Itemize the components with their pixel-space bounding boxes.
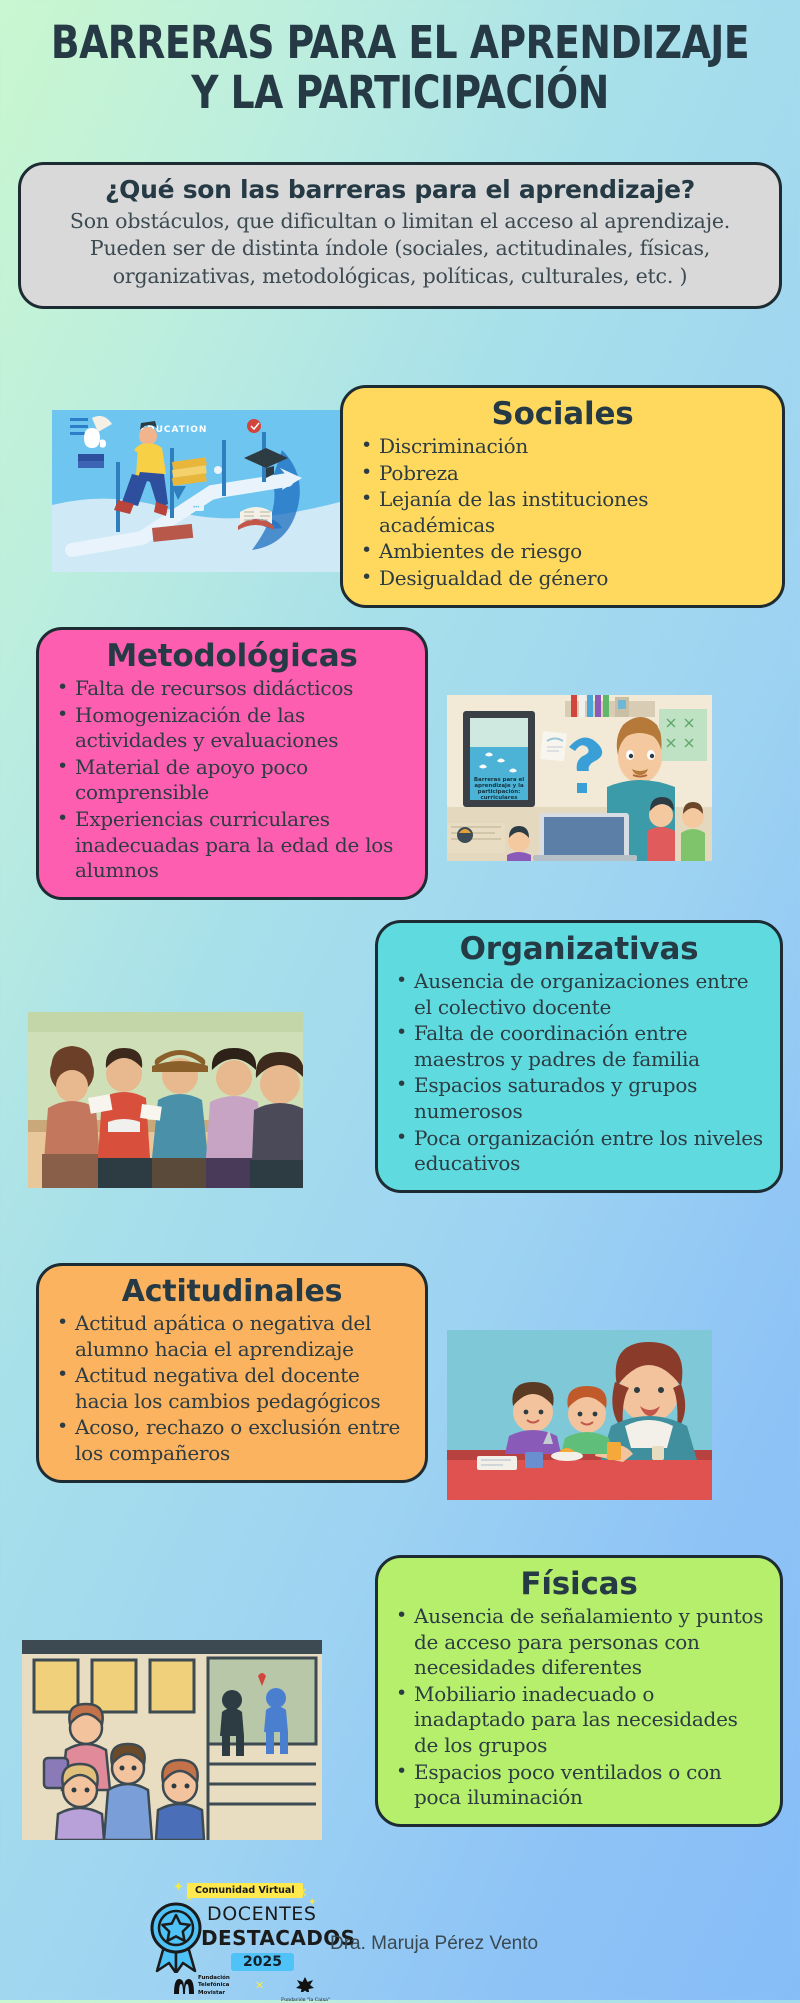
list-item: Homogenización de las actividades y eval…	[53, 703, 411, 754]
list-item: Falta de recursos didácticos	[53, 676, 411, 702]
author-credit: Dra. Maruja Pérez Vento	[330, 1933, 538, 1955]
fundacion-telefonica-label: FundaciónTelefónicaMovistar	[198, 1975, 230, 1997]
page-title: BARRERAS PARA EL APRENDIZAJE Y LA PARTIC…	[28, 18, 772, 119]
card-actitudinales-list: Actitud apática o negativa del alumno ha…	[53, 1311, 411, 1467]
docentes-destacados-logo: ✦ ✕ ✕ ✦ Comunidad Virtual DOCENTES DESTA…	[145, 1883, 330, 1993]
card-actitudinales-title: Actitudinales	[53, 1274, 411, 1309]
card-sociales: Sociales Discriminación Pobreza Lejanía …	[340, 385, 785, 608]
list-item: Acoso, rechazo o exclusión entre los com…	[53, 1415, 411, 1466]
footer: ✦ ✕ ✕ ✦ Comunidad Virtual DOCENTES DESTA…	[0, 1875, 800, 2000]
accessibility-illustration	[22, 1640, 322, 1840]
list-item: Material de apoyo poco comprensible	[53, 755, 411, 806]
list-item: Actitud apática o negativa del alumno ha…	[53, 1311, 411, 1362]
classroom-illustration-svg: Barreras para el aprendizaje y la partic…	[447, 695, 712, 861]
list-item: Mobiliario inadecuado o inadaptado para …	[392, 1682, 766, 1759]
list-item: Falta de coordinación entre maestros y p…	[392, 1021, 766, 1072]
sponsor-logos: FundaciónTelefónicaMovistar ✕ Fundación …	[173, 1975, 348, 2003]
education-illustration: EDUCATION	[52, 410, 340, 572]
list-item: Discriminación	[357, 434, 768, 460]
svg-text:participación:: participación:	[478, 788, 521, 795]
title-line-1: BARRERAS PARA EL APRENDIZAJE	[28, 18, 772, 68]
logo-docentes-text: DOCENTES	[207, 1903, 317, 1925]
ribbon-star-icon	[147, 1901, 205, 1978]
list-item: Actitud negativa del docente hacia los c…	[53, 1363, 411, 1414]
card-organizativas-title: Organizativas	[392, 931, 766, 967]
card-organizativas-list: Ausencia de organizaciones entre el cole…	[392, 969, 766, 1177]
list-item: Espacios poco ventilados o con poca ilum…	[392, 1760, 766, 1811]
card-organizativas: Organizativas Ausencia de organizaciones…	[375, 920, 783, 1193]
card-sociales-list: Discriminación Pobreza Lejanía de las in…	[357, 434, 768, 592]
logo-year-badge: 2025	[231, 1953, 294, 1971]
card-sociales-title: Sociales	[357, 396, 768, 432]
definition-text: Son obstáculos, que dificultan o limitan…	[35, 208, 765, 290]
movistar-m-icon	[173, 1976, 195, 1996]
infographic-page: BARRERAS PARA EL APRENDIZAJE Y LA PARTIC…	[0, 0, 800, 2000]
card-fisicas: Físicas Ausencia de señalamiento y punto…	[375, 1555, 783, 1827]
definition-question: ¿Qué son las barreras para el aprendizaj…	[35, 175, 765, 204]
list-item: Pobreza	[357, 461, 768, 487]
card-fisicas-list: Ausencia de señalamiento y puntos de acc…	[392, 1604, 766, 1811]
list-item: Ambientes de riesgo	[357, 539, 768, 565]
list-item: Lejanía de las instituciones académicas	[357, 487, 768, 538]
card-actitudinales: Actitudinales Actitud apática o negativa…	[36, 1263, 428, 1483]
list-item: Experiencias curriculares inadecuadas pa…	[53, 807, 411, 884]
sparkle-icon: ✦	[173, 1879, 184, 1895]
fundacion-lacaixa-logo: Fundación "la Caixa"	[281, 1976, 330, 2003]
title-line-2: Y LA PARTICIPACIÓN	[28, 68, 772, 118]
star-burst-icon	[292, 1976, 318, 1992]
svg-text:curriculares: curriculares	[481, 795, 519, 801]
fundacion-lacaixa-label: Fundación "la Caixa"	[281, 1998, 330, 2003]
accessibility-illustration-svg	[22, 1640, 322, 1840]
sparkle-icon: ✕	[255, 1979, 264, 1992]
comunidad-virtual-badge: Comunidad Virtual	[187, 1883, 303, 1898]
definition-box: ¿Qué son las barreras para el aprendizaj…	[18, 162, 782, 309]
family-illustration	[447, 1330, 712, 1500]
classroom-illustration: Barreras para el aprendizaje y la partic…	[447, 695, 712, 861]
list-item: Ausencia de organizaciones entre el cole…	[392, 969, 766, 1020]
card-fisicas-title: Físicas	[392, 1566, 766, 1602]
card-metodologicas: Metodológicas Falta de recursos didáctic…	[36, 627, 428, 900]
list-item: Espacios saturados y grupos numerosos	[392, 1073, 766, 1124]
meeting-illustration	[28, 1012, 303, 1188]
list-item: Ausencia de señalamiento y puntos de acc…	[392, 1604, 766, 1681]
fundacion-telefonica-logo: FundaciónTelefónicaMovistar	[173, 1975, 230, 1997]
meeting-illustration-svg	[28, 1012, 303, 1188]
list-item: Desigualdad de género	[357, 566, 768, 592]
card-metodologicas-list: Falta de recursos didácticos Homogenizac…	[53, 676, 411, 884]
education-illustration-svg: EDUCATION	[52, 410, 340, 572]
card-metodologicas-title: Metodológicas	[53, 638, 411, 674]
family-illustration-svg	[447, 1330, 712, 1500]
svg-text:•••: •••	[193, 505, 199, 511]
list-item: Poca organización entre los niveles educ…	[392, 1126, 766, 1177]
